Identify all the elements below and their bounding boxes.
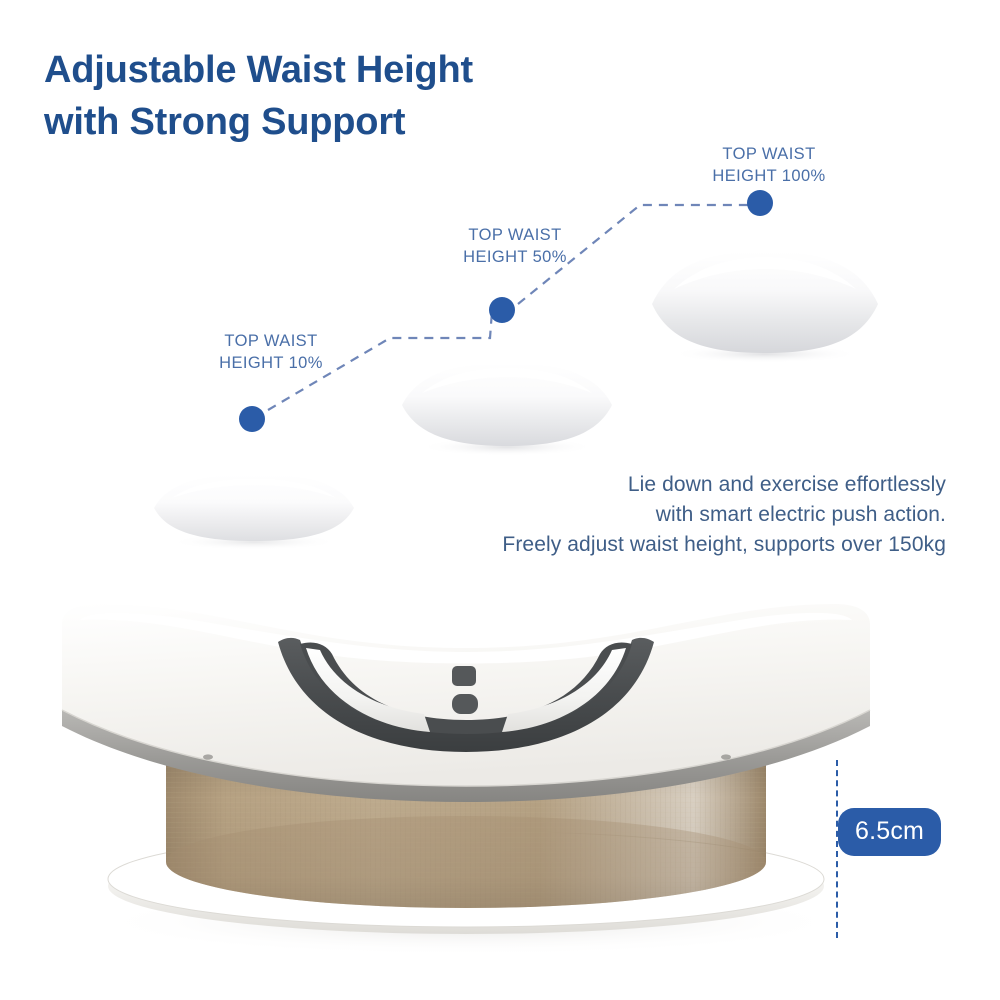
step-label-50-line2: HEIGHT 50% bbox=[440, 246, 590, 268]
step-label-100-line1: TOP WAIST bbox=[694, 143, 844, 165]
measurement-dashed-line bbox=[836, 760, 838, 938]
cushion-large-icon bbox=[646, 245, 884, 363]
control-button-bottom bbox=[452, 694, 478, 714]
cushion-small-icon bbox=[148, 464, 360, 550]
description-line-3: Freely adjust waist height, supports ove… bbox=[360, 530, 946, 560]
vent-right bbox=[721, 754, 731, 759]
step-dot-10-percent bbox=[239, 406, 265, 432]
step-label-10-line2: HEIGHT 10% bbox=[196, 352, 346, 374]
step-dot-50-percent bbox=[489, 297, 515, 323]
page-title-line-2: with Strong Support bbox=[44, 96, 684, 148]
control-button-top bbox=[452, 666, 476, 686]
description-line-2: with smart electric push action. bbox=[360, 500, 946, 530]
description-text: Lie down and exercise effortlessly with … bbox=[360, 470, 946, 560]
cushion-medium-icon bbox=[396, 355, 618, 455]
step-label-10-line1: TOP WAIST bbox=[196, 330, 346, 352]
infographic-page: Adjustable Waist Height with Strong Supp… bbox=[0, 0, 1000, 1000]
step-label-10-percent: TOP WAIST HEIGHT 10% bbox=[196, 330, 346, 374]
page-title: Adjustable Waist Height with Strong Supp… bbox=[44, 44, 684, 148]
page-title-line-1: Adjustable Waist Height bbox=[44, 44, 684, 96]
measurement-badge: 6.5cm bbox=[838, 808, 941, 856]
product-image bbox=[0, 590, 1000, 970]
step-dot-100-percent bbox=[747, 190, 773, 216]
step-label-100-percent: TOP WAIST HEIGHT 100% bbox=[694, 143, 844, 187]
step-label-50-percent: TOP WAIST HEIGHT 50% bbox=[440, 224, 590, 268]
step-label-100-line2: HEIGHT 100% bbox=[694, 165, 844, 187]
vent-left bbox=[203, 754, 213, 759]
step-label-50-line1: TOP WAIST bbox=[440, 224, 590, 246]
description-line-1: Lie down and exercise effortlessly bbox=[360, 470, 946, 500]
